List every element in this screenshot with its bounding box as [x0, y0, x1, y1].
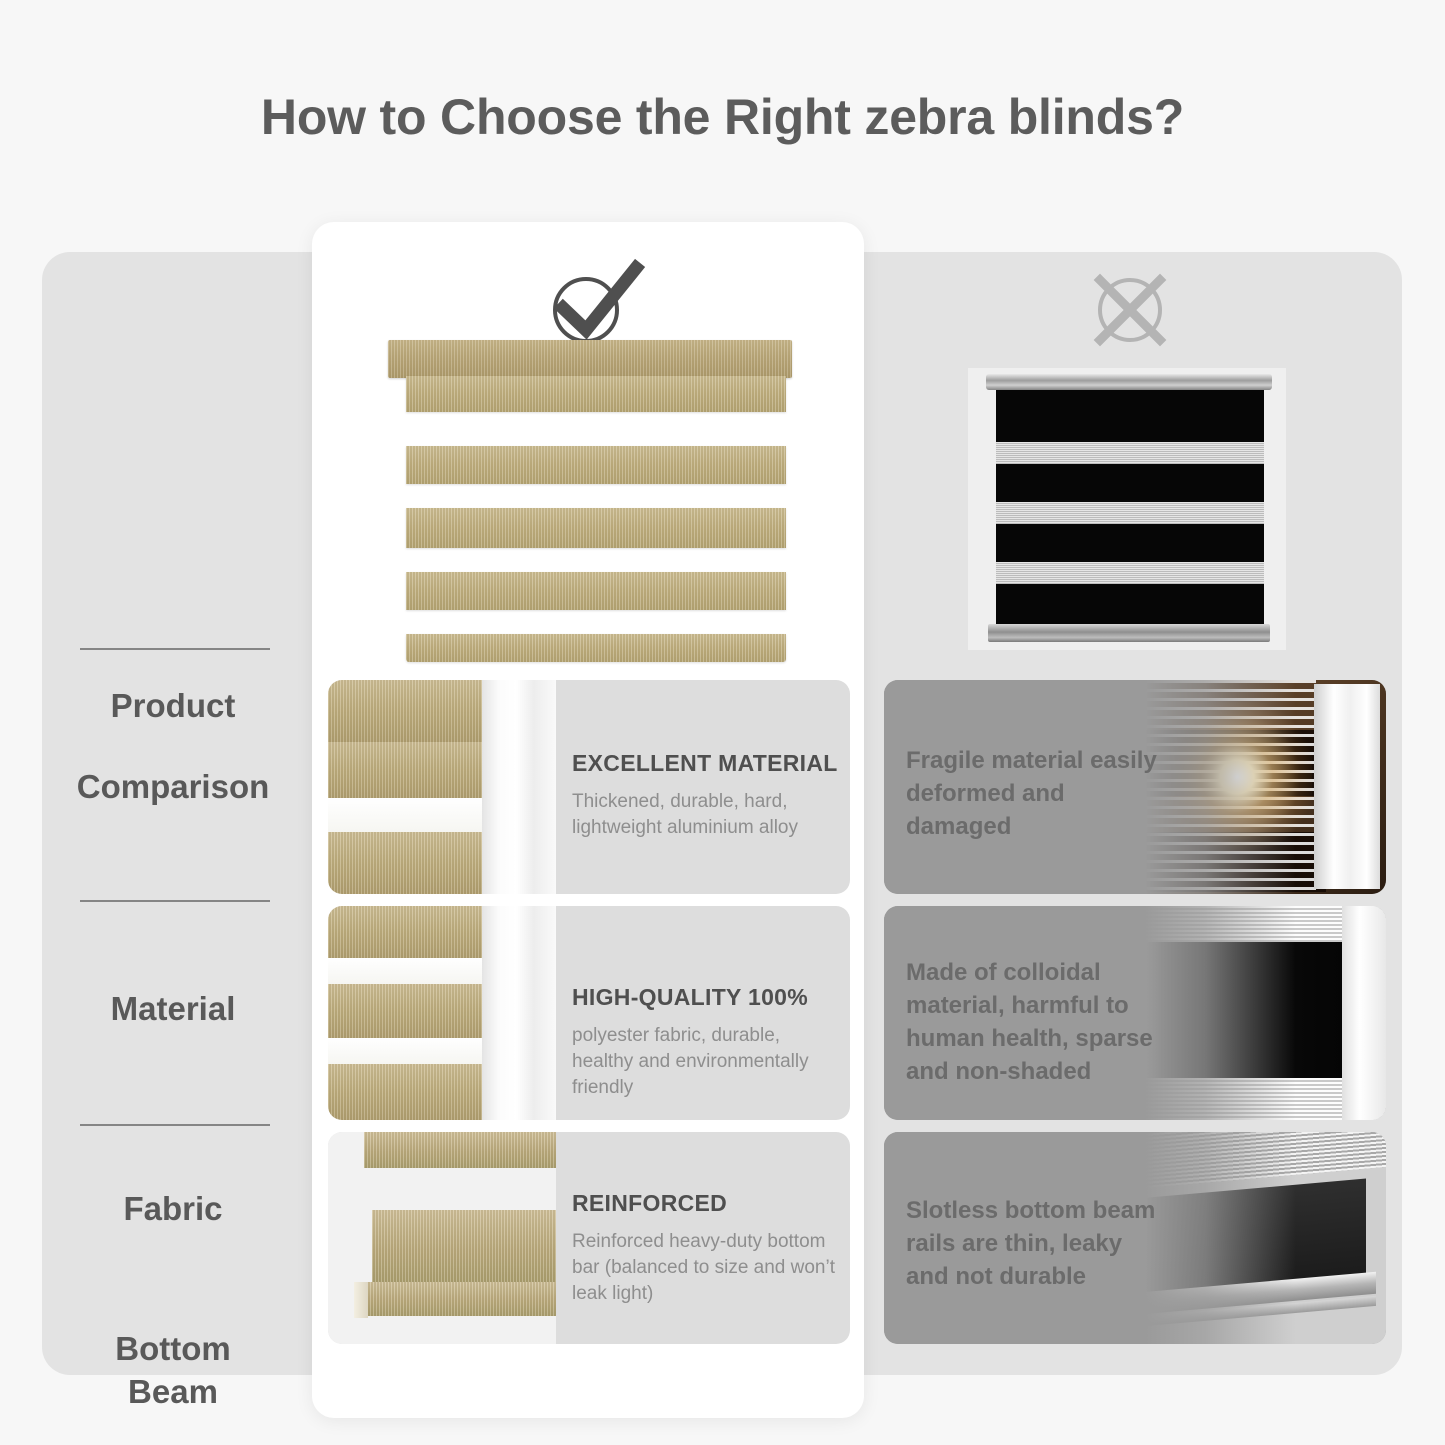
feature-text-material: EXCELLENT MATERIAL Thickened, durable, h…: [572, 750, 842, 841]
check-circle-icon: [538, 258, 648, 348]
blind-bottom-bar: [406, 634, 786, 662]
blind-body: [996, 390, 1264, 624]
black-zebra-blind-hero: [968, 368, 1286, 650]
drawback-card-bottom-beam: Slotless bottom beam rails are thin, lea…: [884, 1132, 1386, 1344]
row-label-material: Material: [42, 987, 304, 1030]
drawback-card-material: Fragile material easily deformed and dam…: [884, 680, 1386, 894]
blind-bottom-bar: [988, 624, 1270, 642]
blind-band: [406, 446, 786, 484]
beige-blind-fabric-photo: [328, 906, 556, 1120]
beige-blind-window-frame-photo: [328, 680, 556, 894]
feature-description: Thickened, durable, hard, lightweight al…: [572, 789, 842, 841]
row-label-column: Product Comparison Material Fabric Botto…: [42, 252, 304, 1375]
infographic-root: How to Choose the Right zebra blinds? Pr…: [0, 0, 1445, 1445]
blind-band: [406, 376, 786, 412]
cross-circle-icon: [1082, 270, 1178, 350]
blind-band: [406, 572, 786, 610]
page-title: How to Choose the Right zebra blinds?: [0, 88, 1445, 146]
feature-title: EXCELLENT MATERIAL: [572, 750, 842, 777]
drawback-text-fabric: Made of colloidal material, harmful to h…: [906, 956, 1166, 1088]
feature-title: REINFORCED: [572, 1190, 842, 1217]
row-label-product-comparison-line2: Comparison: [42, 765, 304, 808]
drawback-card-fabric: Made of colloidal material, harmful to h…: [884, 906, 1386, 1120]
row-divider-1: [80, 648, 270, 650]
blind-band: [406, 508, 786, 548]
feature-description: polyester fabric, durable, healthy and e…: [572, 1023, 842, 1101]
row-divider-3: [80, 1124, 270, 1126]
row-divider-2: [80, 900, 270, 902]
row-label-fabric: Fabric: [42, 1187, 304, 1230]
row-label-product-comparison-line1: Product: [42, 684, 304, 727]
blind-sheer-stripe: [996, 502, 1264, 524]
drawback-text-bottom-beam: Slotless bottom beam rails are thin, lea…: [906, 1194, 1166, 1293]
feature-card-material: EXCELLENT MATERIAL Thickened, durable, h…: [328, 680, 850, 894]
row-label-bottom-beam-line1: Bottom: [42, 1327, 304, 1370]
blind-headrail: [986, 374, 1272, 390]
drawback-text-material: Fragile material easily deformed and dam…: [906, 744, 1166, 843]
feature-card-bottom-beam: REINFORCED Reinforced heavy-duty bottom …: [328, 1132, 850, 1344]
blind-sheer-stripe: [996, 562, 1264, 584]
feature-text-bottom-beam: REINFORCED Reinforced heavy-duty bottom …: [572, 1190, 842, 1307]
feature-card-fabric: HIGH-QUALITY 100% polyester fabric, dura…: [328, 906, 850, 1120]
reinforced-bottom-beam-photo: [328, 1132, 556, 1344]
blind-headrail: [388, 340, 792, 378]
beige-zebra-blind-hero: [388, 340, 792, 670]
feature-text-fabric: HIGH-QUALITY 100% polyester fabric, dura…: [572, 984, 842, 1101]
feature-title: HIGH-QUALITY 100%: [572, 984, 842, 1011]
blind-sheer-stripe: [996, 442, 1264, 464]
feature-description: Reinforced heavy-duty bottom bar (balanc…: [572, 1229, 842, 1307]
row-label-bottom-beam-line2: Beam: [42, 1370, 304, 1413]
